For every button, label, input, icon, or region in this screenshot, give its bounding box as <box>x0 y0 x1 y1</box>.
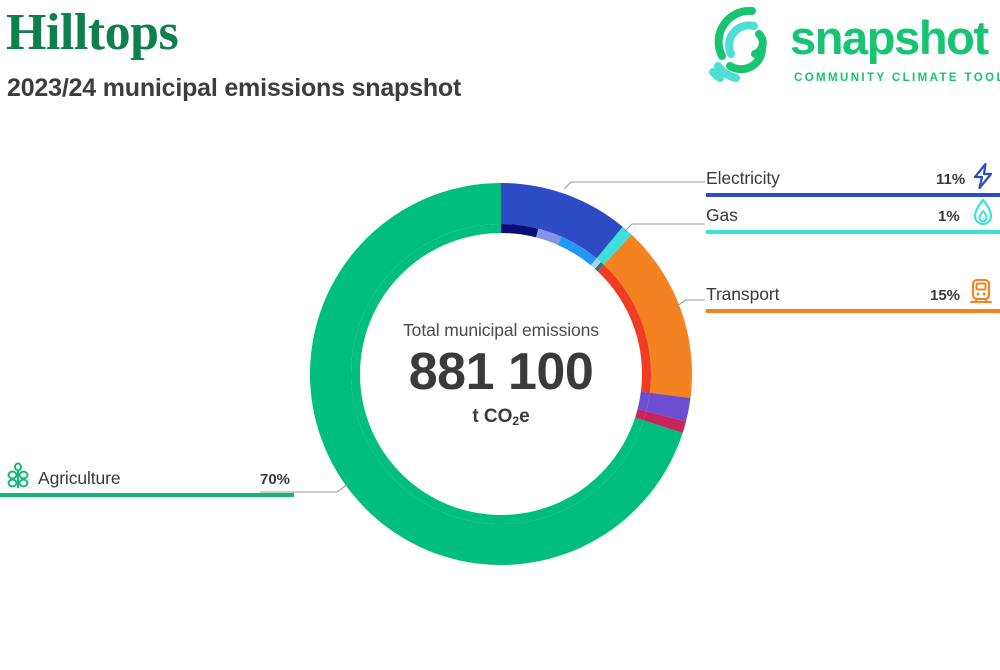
callout-percent-agriculture: 70% <box>260 471 290 488</box>
callout-percent-gas: 1% <box>938 208 960 225</box>
callout-agriculture[interactable]: Agriculture 70% <box>0 460 350 502</box>
callout-rule-gas <box>706 230 1000 234</box>
callout-rule-agriculture <box>0 493 294 497</box>
lightning-bolt-icon <box>970 162 996 190</box>
callout-electricity[interactable]: Electricity 11% <box>560 160 1000 202</box>
callout-label-agriculture: Agriculture <box>38 468 121 489</box>
callout-percent-electricity: 11% <box>936 171 965 188</box>
wheat-icon <box>4 462 32 492</box>
callout-label-transport: Transport <box>706 284 779 305</box>
train-icon <box>968 277 994 307</box>
flame-icon <box>970 198 996 228</box>
callout-rule-transport <box>706 309 1000 313</box>
callout-label-gas: Gas <box>706 205 738 226</box>
callout-transport[interactable]: Transport 15% <box>672 276 1000 318</box>
leader-lines <box>0 0 1000 670</box>
callout-percent-transport: 15% <box>930 287 960 304</box>
callout-label-electricity: Electricity <box>706 168 780 189</box>
callout-gas[interactable]: Gas 1% <box>620 197 1000 239</box>
